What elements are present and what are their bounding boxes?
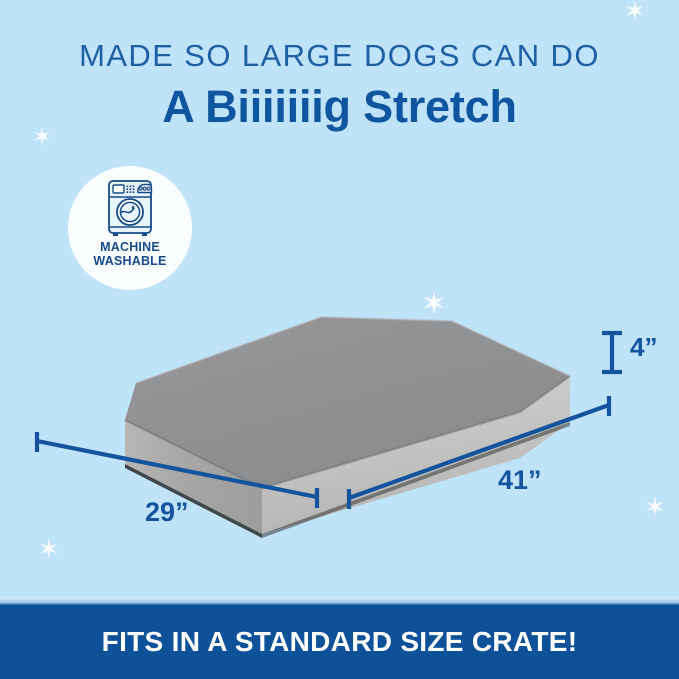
dimension-label-width: 41” bbox=[498, 465, 542, 496]
badge-label: MACHINE WASHABLE bbox=[93, 240, 166, 268]
headline-title: A Biiiiiiig Stretch bbox=[0, 82, 679, 132]
star-icon: ✶ bbox=[624, 0, 646, 24]
badge-label-line1: MACHINE bbox=[93, 240, 166, 254]
washing-machine-icon bbox=[105, 178, 155, 236]
product-infographic: ✶ ✶ ✶ ✶ ✶ MADE SO LARGE DOGS CAN DO A Bi… bbox=[0, 0, 679, 679]
badge-label-line2: WASHABLE bbox=[93, 254, 166, 268]
headline-block: MADE SO LARGE DOGS CAN DO A Biiiiiiig St… bbox=[0, 38, 679, 132]
banner-gradient-strip bbox=[0, 595, 679, 605]
dimension-label-depth: 29” bbox=[145, 497, 189, 528]
dog-bed-mattress bbox=[0, 280, 679, 540]
bottom-banner: FITS IN A STANDARD SIZE CRATE! bbox=[0, 605, 679, 679]
headline-subtitle: MADE SO LARGE DOGS CAN DO bbox=[0, 38, 679, 74]
dimension-label-height: 4” bbox=[630, 332, 657, 363]
machine-washable-badge: MACHINE WASHABLE bbox=[68, 166, 192, 290]
banner-text: FITS IN A STANDARD SIZE CRATE! bbox=[102, 626, 578, 658]
